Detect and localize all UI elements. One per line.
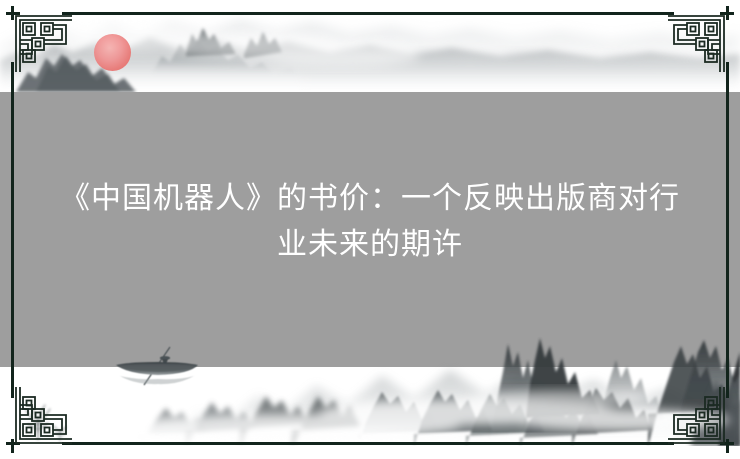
frame-rule-top xyxy=(62,12,674,15)
poster-title-block: 《中国机器人》的书价：一个反映出版商对行业未来的期许 xyxy=(0,176,740,268)
poster-title: 《中国机器人》的书价：一个反映出版商对行业未来的期许 xyxy=(0,176,740,268)
fret-corner-bottom-left-icon xyxy=(10,371,88,449)
fisherman-boat xyxy=(108,345,208,391)
fret-corner-top-right-icon xyxy=(652,10,730,88)
frame-rule-bottom xyxy=(62,442,674,445)
poster-canvas: 《中国机器人》的书价：一个反映出版商对行业未来的期许 xyxy=(0,0,740,459)
fret-corner-bottom-right-icon xyxy=(652,371,730,449)
fret-corner-top-left-icon xyxy=(10,10,88,88)
red-sun-icon xyxy=(94,34,131,71)
